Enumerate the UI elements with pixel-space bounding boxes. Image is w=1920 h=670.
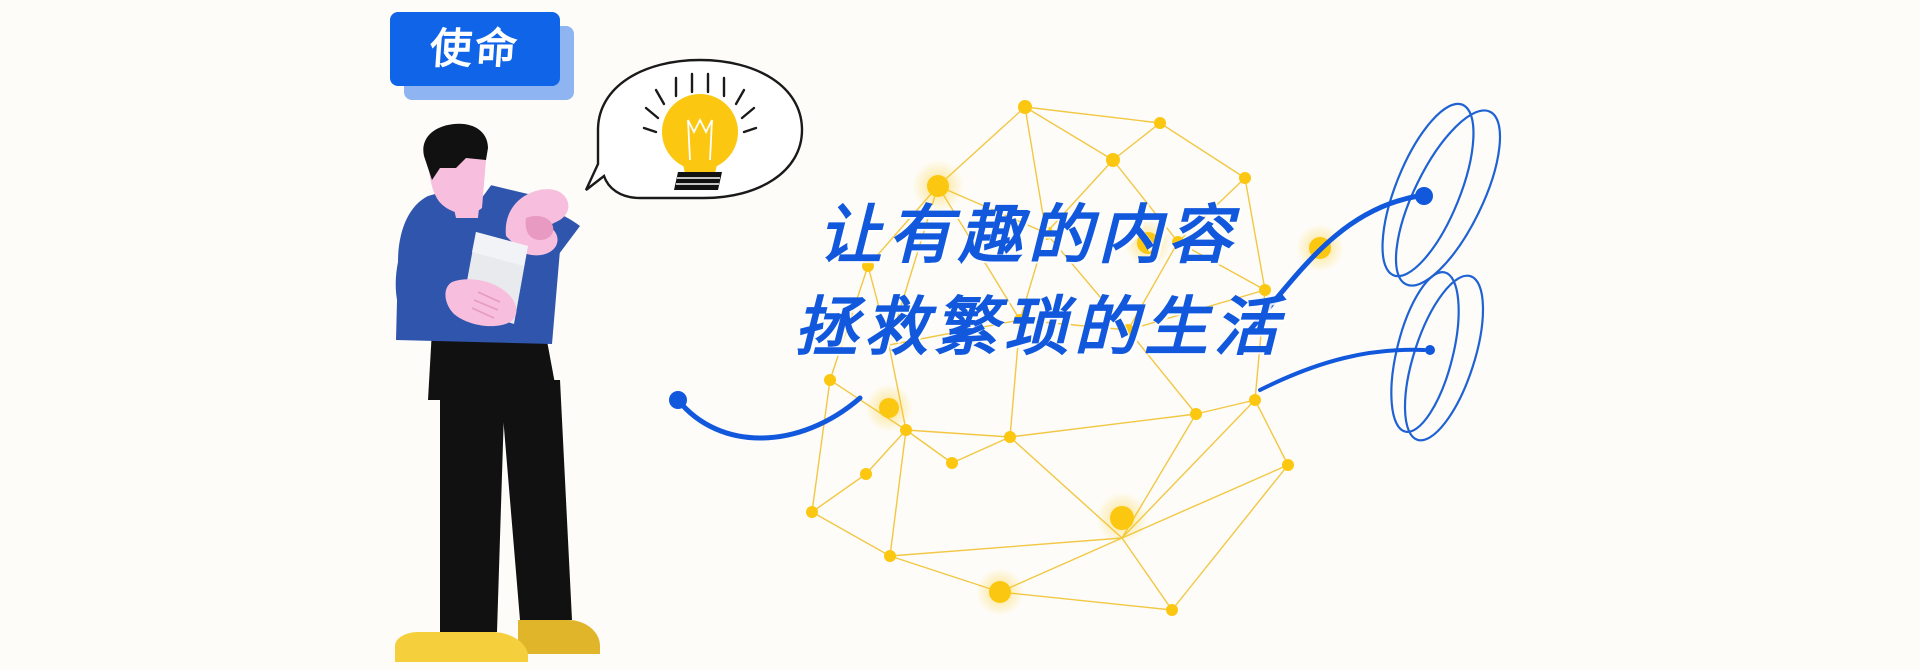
bulb-base (674, 172, 722, 190)
mission-banner: 使命 让有趣的内容 拯救繁琐的生活 (0, 0, 1920, 670)
bulb-glass (662, 94, 738, 170)
idea-speech-bubble (0, 0, 1920, 670)
